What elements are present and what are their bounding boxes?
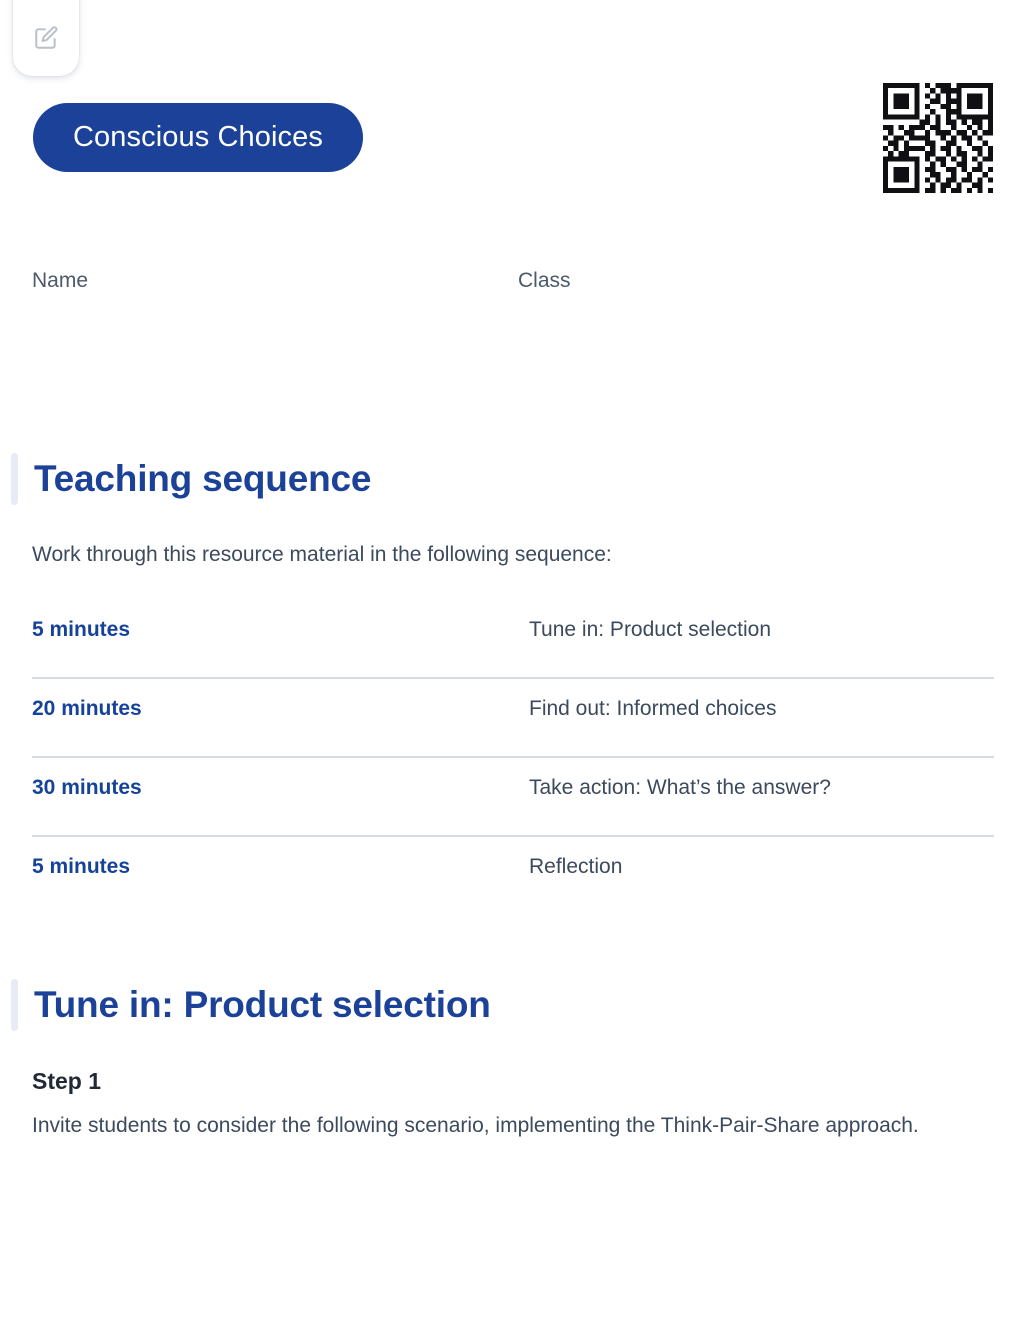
square-pen-icon [33, 25, 59, 51]
sequence-activity: Tune in: Product selection [529, 598, 771, 642]
teaching-sequence-intro: Work through this resource material in t… [32, 543, 612, 567]
teaching-sequence-table: 5 minutes Tune in: Product selection 20 … [32, 598, 994, 914]
section-heading-text: Teaching sequence [34, 458, 371, 500]
section-heading-tune-in: Tune in: Product selection [11, 979, 491, 1031]
qr-code[interactable] [880, 83, 996, 193]
sequence-duration: 5 minutes [32, 835, 529, 879]
name-label: Name [32, 269, 88, 293]
sequence-activity: Take action: What’s the answer? [529, 756, 831, 800]
sequence-duration: 30 minutes [32, 756, 529, 800]
table-row: 5 minutes Reflection [32, 835, 994, 914]
sequence-activity: Find out: Informed choices [529, 677, 776, 721]
edit-annotation-card[interactable] [13, 0, 79, 76]
heading-accent-bar [11, 979, 18, 1031]
table-row: 5 minutes Tune in: Product selection [32, 598, 994, 677]
document-title-text: Conscious Choices [73, 121, 323, 154]
heading-accent-bar [11, 453, 18, 505]
sequence-activity: Reflection [529, 835, 622, 879]
step-block: Step 1 Invite students to consider the f… [32, 1068, 952, 1143]
table-row: 20 minutes Find out: Informed choices [32, 677, 994, 756]
step-title: Step 1 [32, 1068, 952, 1095]
sequence-duration: 5 minutes [32, 598, 529, 642]
document-title-badge: Conscious Choices [33, 103, 363, 172]
table-row: 30 minutes Take action: What’s the answe… [32, 756, 994, 835]
step-body: Invite students to consider the followin… [32, 1110, 942, 1143]
section-heading-teaching-sequence: Teaching sequence [11, 453, 371, 505]
class-label: Class [518, 269, 571, 293]
student-meta-row: Name Class [32, 269, 994, 299]
sequence-duration: 20 minutes [32, 677, 529, 721]
section-heading-text: Tune in: Product selection [34, 984, 491, 1026]
